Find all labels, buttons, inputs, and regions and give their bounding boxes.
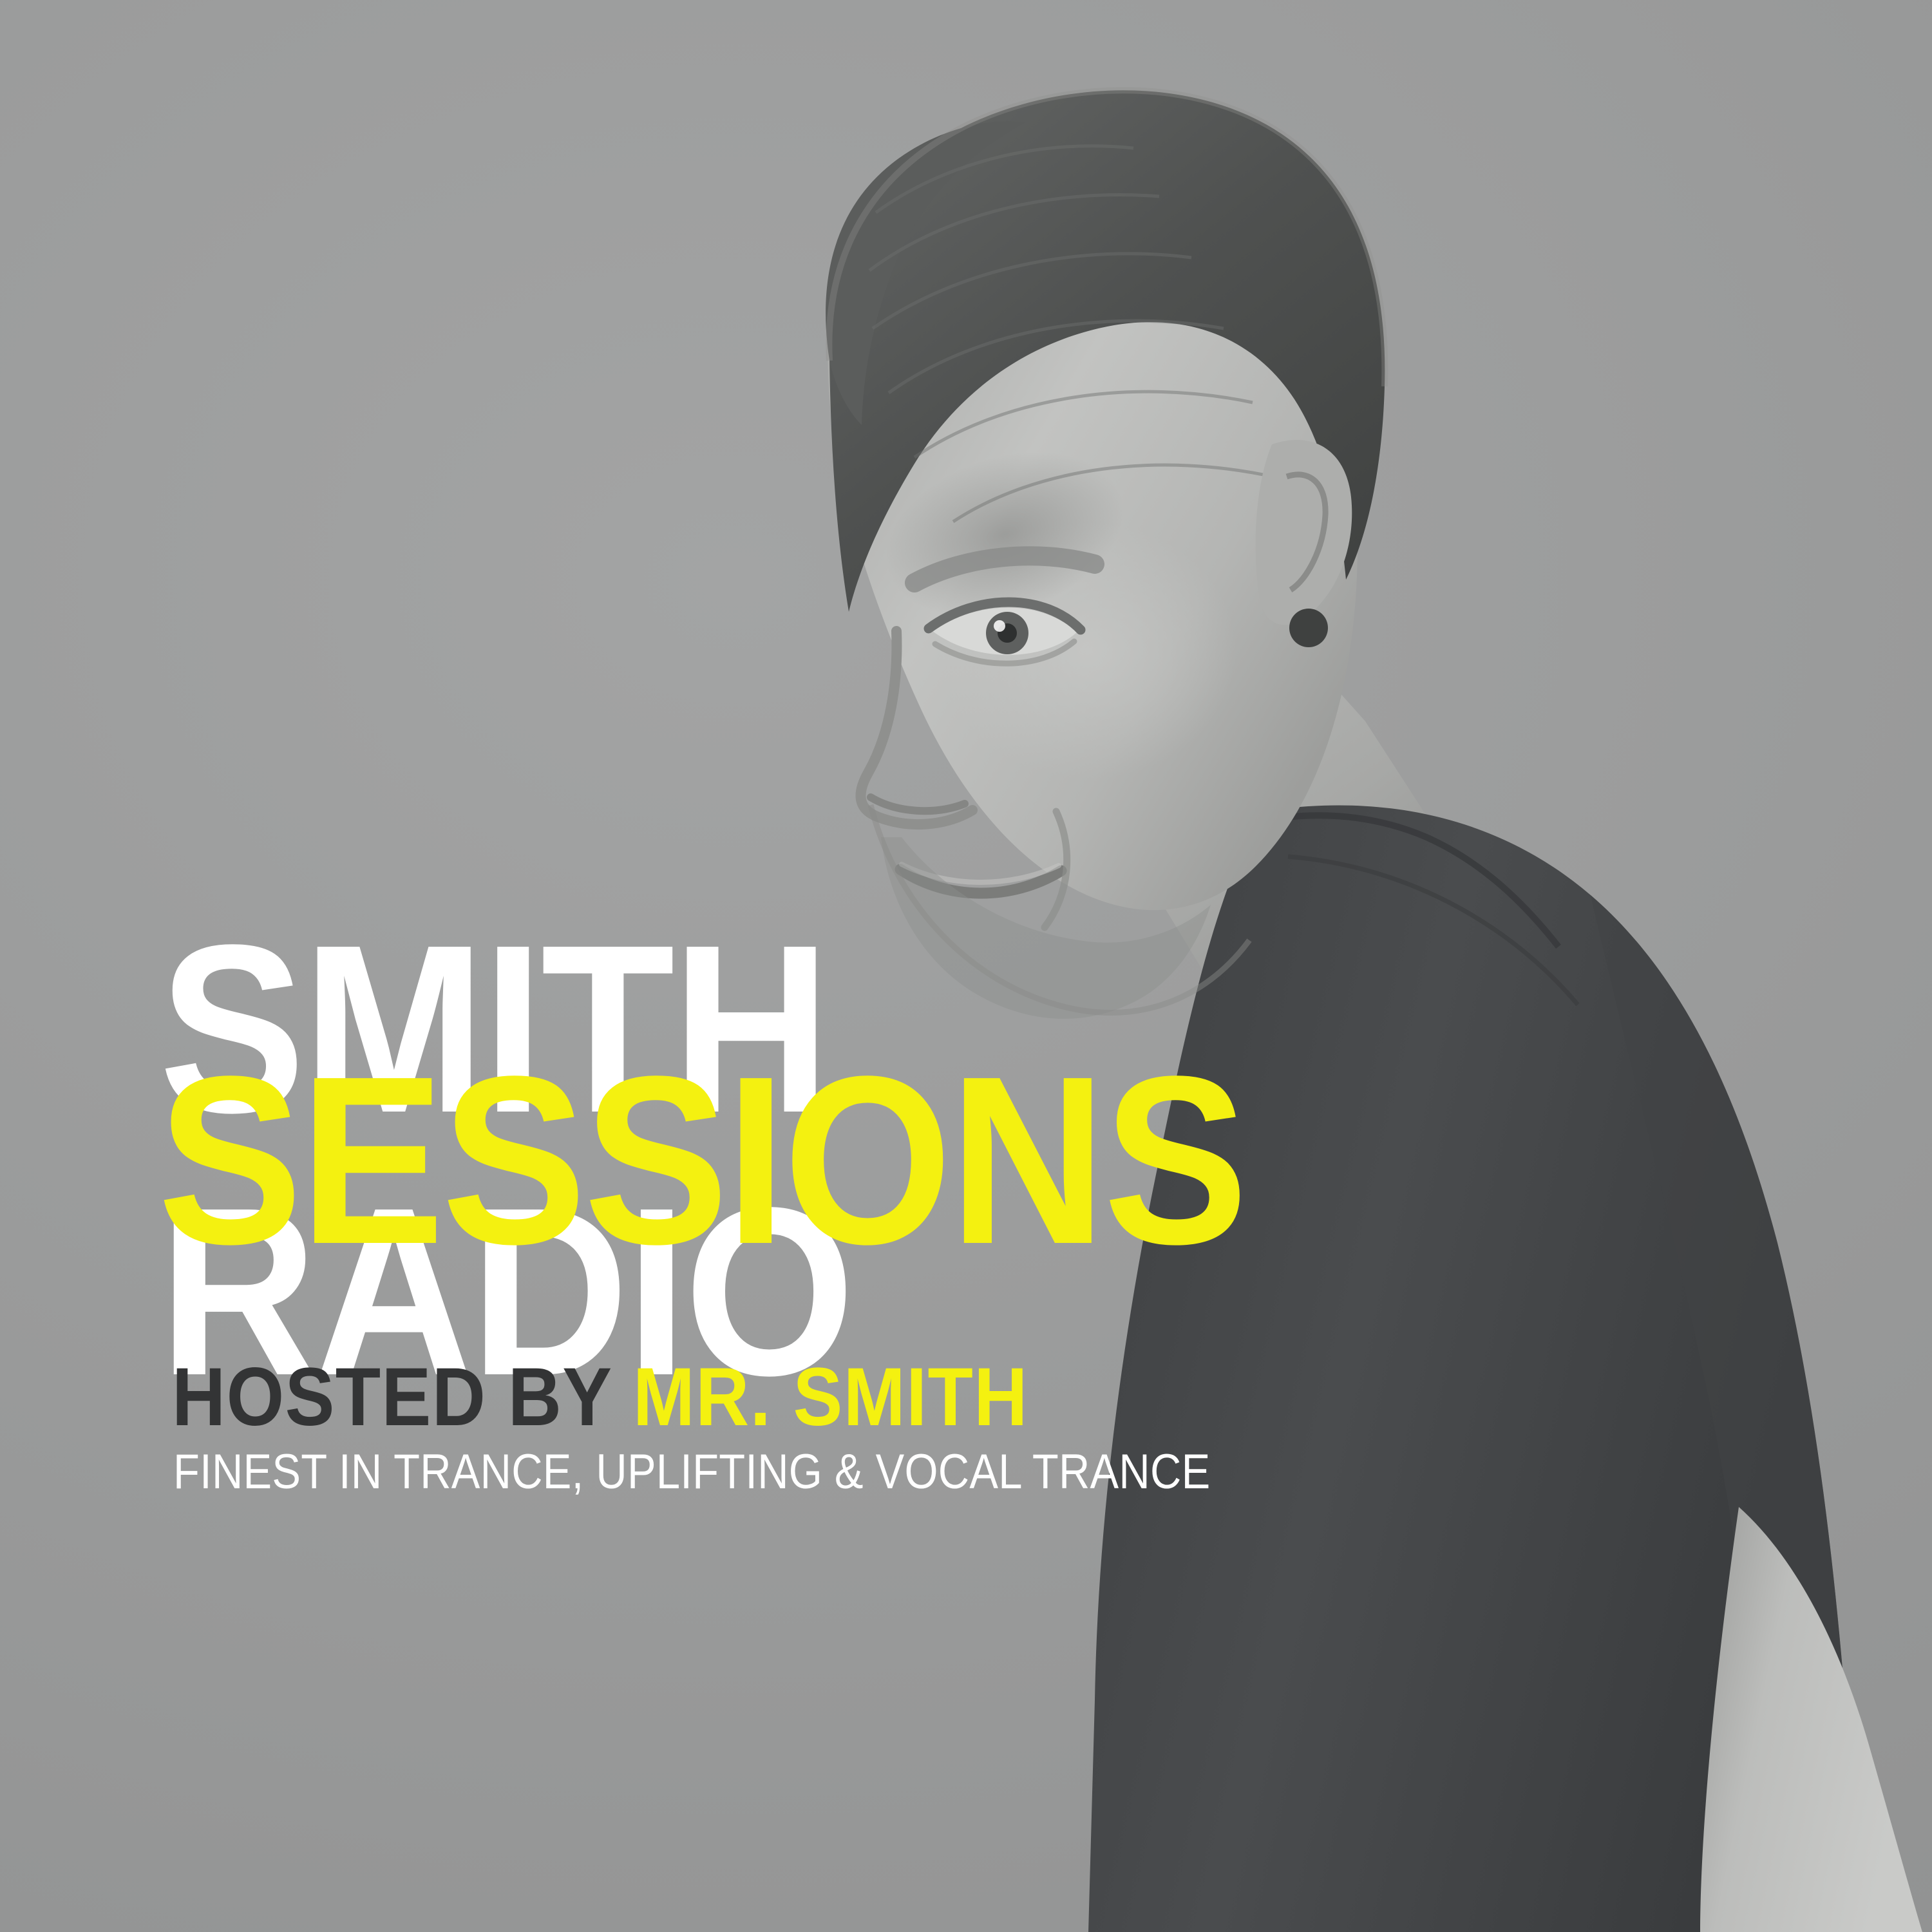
hosted-by-label: HOSTED BY bbox=[172, 1351, 611, 1443]
host-name: MR. SMITH bbox=[633, 1351, 1028, 1443]
album-cover-art: SMITH SESSIONS RADIO HOSTED BY MR. SMITH… bbox=[0, 0, 1932, 1932]
eye-catchlight bbox=[994, 620, 1005, 632]
nostril-line bbox=[871, 797, 965, 811]
hosted-by-credit: HOSTED BY MR. SMITH bbox=[172, 1356, 1491, 1439]
tagline: FINEST IN TRANCE, UPLIFTING & VOCAL TRAN… bbox=[173, 1448, 1462, 1497]
logo-lockup: SMITH SESSIONS RADIO HOSTED BY MR. SMITH… bbox=[156, 935, 1638, 1497]
logo-line-sessions: SESSIONS bbox=[158, 1066, 1497, 1253]
ear-plug-icon bbox=[1289, 609, 1328, 647]
